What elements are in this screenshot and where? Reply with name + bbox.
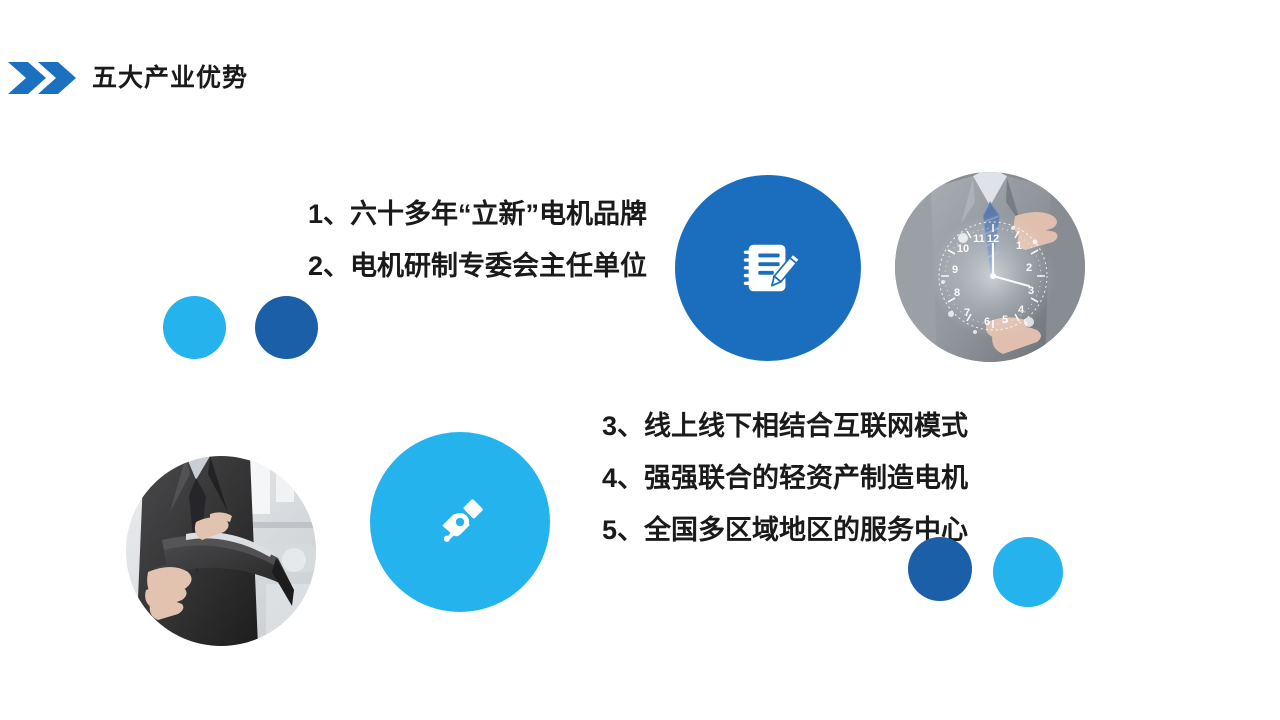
advantage-list-top: 1、六十多年“立新”电机品牌 2、电机研制专委会主任单位	[255, 188, 647, 292]
notepad-pencil-icon	[737, 237, 799, 299]
decor-dot-blue-left	[255, 296, 318, 359]
svg-text:10: 10	[957, 243, 969, 255]
notepad-icon-circle	[675, 175, 861, 361]
clock-photo-artwork: 12 1 2 3 4 5 6 7 8 9 10 11	[895, 172, 1085, 362]
advantage-item-4: 4、强强联合的轻资产制造电机	[560, 452, 968, 504]
businessman-clock-hologram-photo: 12 1 2 3 4 5 6 7 8 9 10 11	[895, 172, 1085, 362]
svg-text:2: 2	[1026, 262, 1032, 274]
svg-text:5: 5	[1002, 314, 1008, 326]
slide-header: 五大产业优势	[0, 52, 248, 104]
decor-dot-blue-right	[908, 537, 972, 601]
svg-text:6: 6	[984, 316, 990, 328]
svg-text:11: 11	[973, 233, 985, 245]
folder-photo-artwork	[126, 456, 316, 646]
advantage-item-1: 1、六十多年“立新”电机品牌	[255, 188, 647, 240]
advantage-list-bottom: 3、线上线下相结合互联网模式 4、强强联合的轻资产制造电机 5、全国多区域地区的…	[560, 400, 968, 556]
advantage-item-3: 3、线上线下相结合互联网模式	[560, 400, 968, 452]
pen-nib-icon	[431, 493, 489, 551]
svg-text:8: 8	[954, 287, 960, 299]
decor-dot-cyan-right	[993, 537, 1063, 607]
svg-text:9: 9	[952, 264, 958, 276]
page-title: 五大产业优势	[92, 66, 248, 91]
svg-text:4: 4	[1018, 304, 1025, 316]
svg-text:1: 1	[1016, 240, 1022, 252]
svg-text:7: 7	[964, 307, 970, 319]
advantage-item-5: 5、全国多区域地区的服务中心	[560, 504, 968, 556]
slide-root: 五大产业优势 1、六十多年“立新”电机品牌 2、电机研制专委会主任单位 3、线上…	[0, 0, 1280, 720]
decor-dot-cyan-left	[163, 296, 226, 359]
double-chevron-right-icon	[6, 56, 78, 100]
businessman-folder-photo	[126, 456, 316, 646]
pen-icon-circle	[370, 432, 550, 612]
advantage-item-2: 2、电机研制专委会主任单位	[255, 240, 647, 292]
